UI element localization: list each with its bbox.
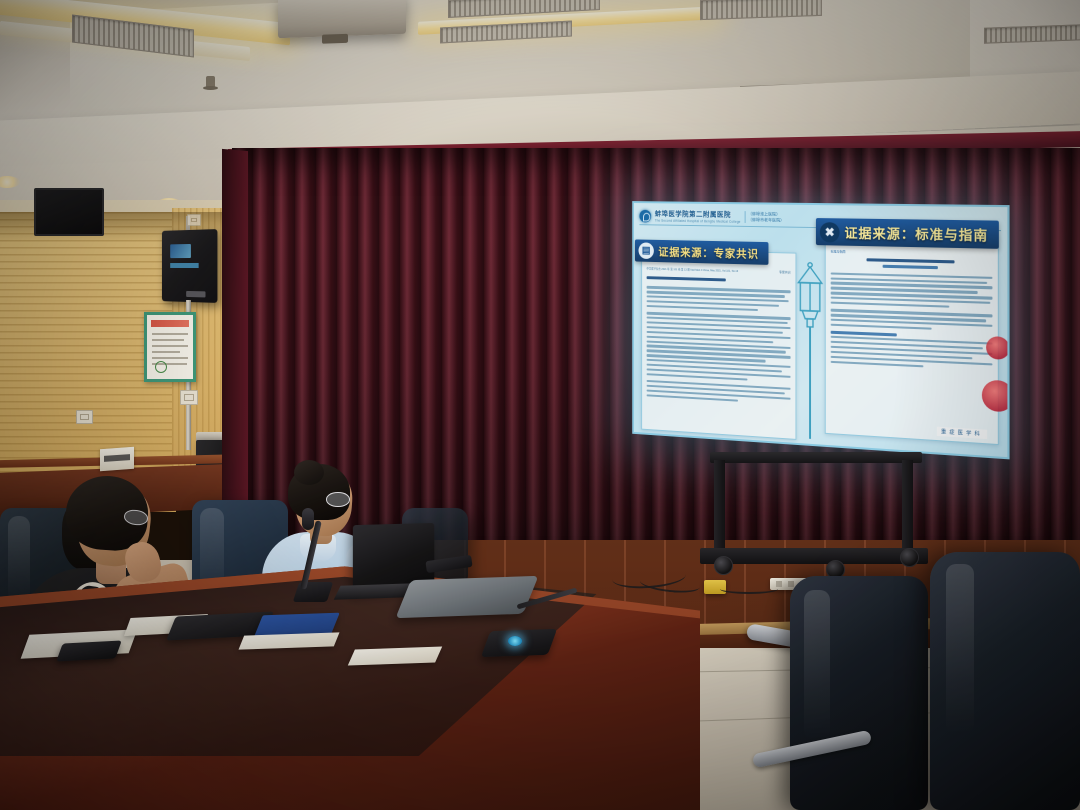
doc-title-left xyxy=(647,276,726,282)
curtain-edge xyxy=(222,149,248,551)
microphone-led-indicator xyxy=(508,636,522,646)
table-name-card xyxy=(100,447,134,471)
hair-bun xyxy=(294,460,324,485)
wall-display xyxy=(34,188,104,236)
cart-base xyxy=(700,548,928,564)
doc-title-right xyxy=(867,258,954,264)
slide-panel-expert-consensus: ▤ 证据来源：专家共识 中华医学杂志 2021 年 第 101 卷 第 13 期… xyxy=(641,249,796,440)
conference-room-photo: 蚌埠医学院第二附属医院 The Second Affiliated Hospit… xyxy=(0,0,1080,810)
wall-speaker xyxy=(162,229,218,303)
panel-title-right-text: 证据来源：标准与指南 xyxy=(845,222,989,244)
hospital-tag-line-2: （蚌埠市老年医院） xyxy=(748,217,784,224)
microphone-mount xyxy=(293,582,333,602)
doc-author-text: 专家共识 xyxy=(779,270,791,274)
projection-screen: 蚌埠医学院第二附属医院 The Second Affiliated Hospit… xyxy=(632,201,1009,459)
caster-wheel xyxy=(900,548,919,567)
wall-outlet[interactable] xyxy=(187,214,201,226)
office-chair[interactable] xyxy=(930,552,1080,810)
poster-title-bar xyxy=(151,320,189,327)
wall-notice-board xyxy=(144,312,196,382)
poster-seal-icon xyxy=(155,361,167,373)
speaker-badge xyxy=(170,263,198,268)
hospital-name-english: The Second Affiliated Hospital of Bengbu… xyxy=(655,219,741,224)
doc-meta-left: 中华医学杂志 2021 年 第 101 卷 第 13 期 Natl Med J … xyxy=(647,267,791,275)
panel-title-right: ✖ 证据来源：标准与指南 xyxy=(816,218,999,249)
microphone-head-icon xyxy=(302,508,314,530)
laptop-sleeve xyxy=(395,576,538,618)
name-card-text xyxy=(104,454,130,462)
section-label-right: 标准与指南 xyxy=(831,249,993,257)
document-icon: ▤ xyxy=(639,242,654,259)
air-vent-icon xyxy=(984,24,1080,43)
slide-panel-standards-guidelines: ✖ 证据来源：标准与指南 标准与指南 xyxy=(825,231,999,445)
fire-sprinkler-icon xyxy=(206,76,215,89)
panel-title-left: ▤ 证据来源：专家共识 xyxy=(635,239,769,264)
wall-outlet[interactable] xyxy=(76,410,93,424)
sub-head-right-1 xyxy=(831,331,897,336)
guideline-icon: ✖ xyxy=(820,222,840,242)
decor-red-circle xyxy=(986,336,1009,360)
office-chair[interactable] xyxy=(790,576,928,810)
slide-panels: ▤ 证据来源：专家共识 中华医学杂志 2021 年 第 101 卷 第 13 期… xyxy=(641,228,999,450)
floor-cable xyxy=(720,584,778,594)
hospital-logo-icon xyxy=(639,209,651,222)
panel-left-body: 中华医学杂志 2021 年 第 101 卷 第 13 期 Natl Med J … xyxy=(647,267,791,435)
panel-right-body: 标准与指南 xyxy=(831,249,993,439)
eyeglasses xyxy=(326,492,350,507)
cart-top-shelf xyxy=(710,452,922,463)
ceiling-projector xyxy=(278,0,406,38)
presentation-slide: 蚌埠医学院第二附属医院 The Second Affiliated Hospit… xyxy=(632,201,1009,459)
slide-footer: 重症医学科 xyxy=(937,427,987,439)
wall-outlet[interactable] xyxy=(180,390,198,405)
doc-sub-right xyxy=(883,265,938,269)
panel-title-left-text: 证据来源：专家共识 xyxy=(658,243,759,261)
smartphone[interactable] xyxy=(56,640,122,661)
cart-leg xyxy=(902,460,913,552)
display-cart xyxy=(700,452,928,572)
papers xyxy=(348,646,442,665)
speaker-brand-logo xyxy=(186,291,205,298)
speaker-badge xyxy=(170,244,191,258)
doc-meta-text: 中华医学杂志 2021 年 第 101 卷 第 13 期 Natl Med J … xyxy=(647,267,739,273)
hospital-subtitle: （蚌埠淮上医院） （蚌埠市老年医院） xyxy=(744,211,784,224)
caster-wheel xyxy=(714,556,733,575)
cart-leg xyxy=(714,460,725,552)
